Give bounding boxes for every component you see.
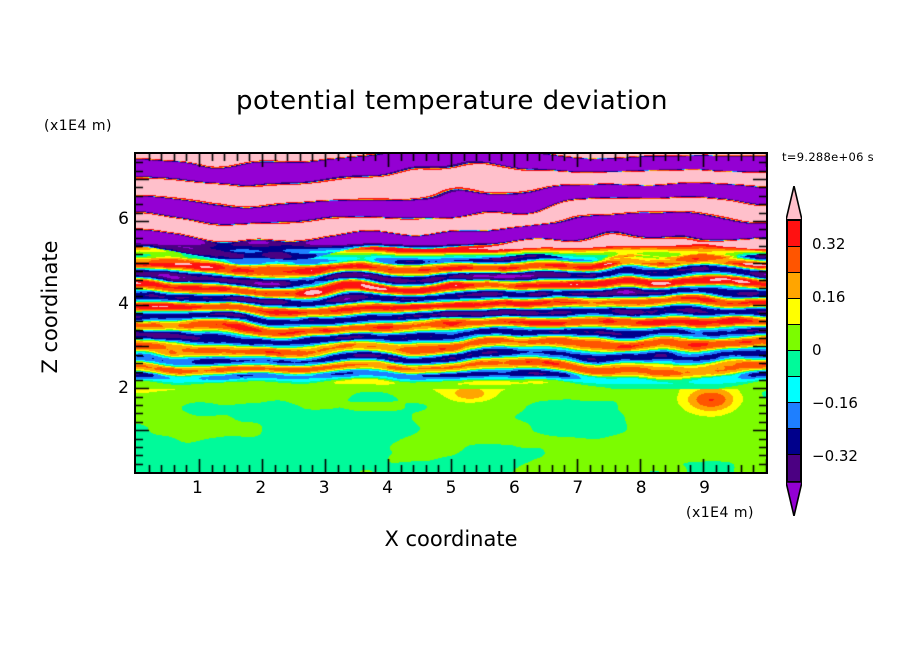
y-tick-label-2: 2 xyxy=(103,378,129,398)
timestamp-annotation: t=9.288e+06 s xyxy=(782,150,874,164)
colorbar-band-stack xyxy=(786,219,802,483)
x-tick-label-3: 3 xyxy=(309,478,339,498)
page-title: potential temperature deviation xyxy=(0,86,904,116)
x-tick-label-4: 4 xyxy=(373,478,403,498)
colorbar-band-5 xyxy=(788,351,800,377)
colorbar[interactable]: 0.320.160−0.16−0.32 xyxy=(786,186,802,516)
colorbar-top-cap-icon xyxy=(786,186,802,220)
x-tick-label-8: 8 xyxy=(626,478,656,498)
colorbar-band-0 xyxy=(788,221,800,247)
x-tick-label-6: 6 xyxy=(499,478,529,498)
colorbar-bottom-cap-icon xyxy=(786,482,802,516)
x-axis-unit-label: (x1E4 m) xyxy=(686,505,754,521)
y-tick-label-6: 6 xyxy=(103,209,129,229)
colorbar-band-9 xyxy=(788,455,800,481)
colorbar-band-1 xyxy=(788,247,800,273)
colorbar-band-4 xyxy=(788,325,800,351)
colorbar-band-7 xyxy=(788,403,800,429)
y-axis-title: Z coordinate xyxy=(38,197,62,417)
contour-field-canvas xyxy=(136,154,766,472)
x-tick-label-2: 2 xyxy=(246,478,276,498)
colorbar-label-4: −0.32 xyxy=(812,447,858,465)
x-tick-label-7: 7 xyxy=(563,478,593,498)
colorbar-band-2 xyxy=(788,273,800,299)
x-tick-label-9: 9 xyxy=(690,478,720,498)
contour-plot-area[interactable] xyxy=(134,152,768,474)
colorbar-label-2: 0 xyxy=(812,341,822,359)
x-tick-label-1: 1 xyxy=(182,478,212,498)
x-axis-title: X coordinate xyxy=(134,527,768,551)
colorbar-band-6 xyxy=(788,377,800,403)
colorbar-label-0: 0.32 xyxy=(812,235,845,253)
colorbar-label-3: −0.16 xyxy=(812,394,858,412)
x-tick-label-5: 5 xyxy=(436,478,466,498)
y-tick-label-4: 4 xyxy=(103,294,129,314)
colorbar-label-1: 0.16 xyxy=(812,288,845,306)
colorbar-band-3 xyxy=(788,299,800,325)
z-axis-unit-label: (x1E4 m) xyxy=(44,118,112,134)
colorbar-band-8 xyxy=(788,429,800,455)
